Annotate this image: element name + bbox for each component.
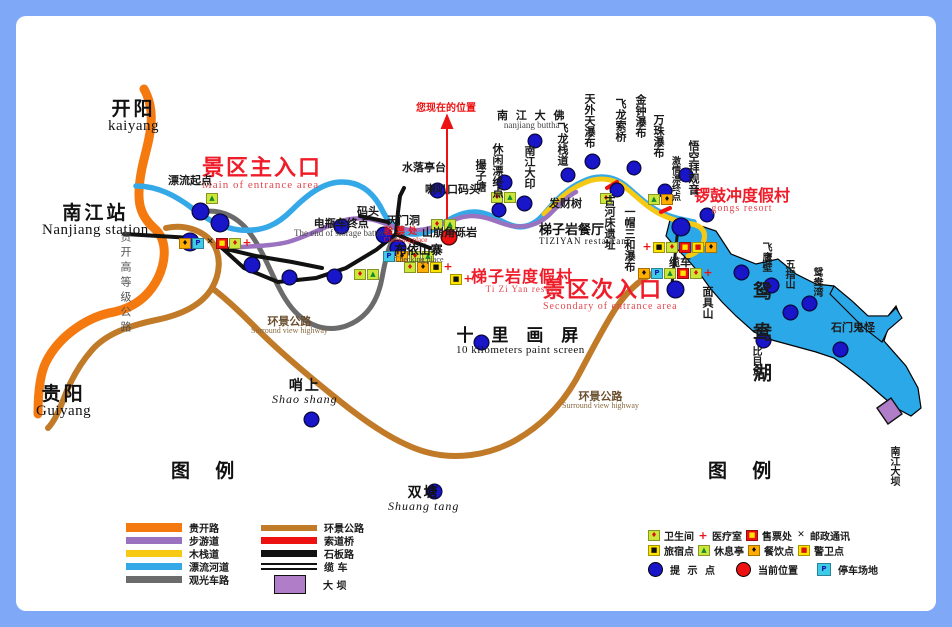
place-guiyang: 贵阳 Guiyang (36, 385, 91, 419)
title-gongs-resort: 锣鼓冲度假村 gongs resort (694, 188, 790, 214)
facility-cluster[interactable]: ♦▲ (354, 269, 379, 280)
info-dot[interactable] (244, 257, 260, 273)
parking-icon: P (817, 563, 831, 576)
poi-buyi-en: Checking place (394, 256, 444, 264)
title-main-entrance: 景区主入口 Main of entrance area (202, 158, 322, 191)
poi-wanzhu-waterfall: 万珠瀑布 (653, 114, 664, 158)
dining-icon: ♦ (705, 242, 717, 253)
poi-paint-screen: 十 里 画 屏 10 kilometers paint screen (456, 328, 585, 356)
ticket-icon: ■ (216, 238, 228, 249)
poi-nanjiang-seal: 南江大印 (524, 145, 535, 189)
road-label-surround-b: 环景公路 Surround view highway (562, 391, 639, 410)
legend-swatch-cablecar (261, 563, 317, 570)
info-dot[interactable] (672, 218, 690, 236)
map-canvas: ♦P✕ ■♦+ ▲ P♦ ♦▲ ♦▲ ♦▲ ♦▲ ♦♦ ■+ ■+ ♦ ▲♦ (16, 16, 936, 611)
lake-name: 鸳 鸯 湖 (751, 281, 770, 386)
info-dot[interactable] (783, 305, 798, 320)
poi-tianwaitian-waterfall: 天外天瀑布 (584, 93, 595, 148)
map-frame: ♦P✕ ■♦+ ▲ P♦ ♦▲ ♦▲ ♦▲ ♦▲ ♦♦ ■+ ■+ ♦ ▲♦ (0, 0, 952, 627)
legend-swatch-guikai (126, 523, 182, 532)
clinic-icon: + (703, 268, 713, 277)
pavilion-icon: ▲ (648, 194, 660, 205)
poi-wukong-guanyin: 悟空拜观音 (688, 140, 699, 195)
legend-item: 石板路 (261, 547, 364, 560)
current-dot-icon (736, 562, 751, 577)
place-shaoshang: 哨上 Shao shang (272, 379, 338, 405)
info-dot[interactable] (492, 203, 506, 217)
place-shuangtang-en: Shuang tang (388, 500, 459, 512)
poi-yimaosanhe-waterfall: 一帽三和瀑布 (624, 206, 635, 272)
place-nanjiang-en: Nanjiang station (42, 223, 149, 238)
info-dot[interactable] (327, 269, 342, 284)
place-guiyang-zh: 贵阳 (36, 385, 91, 404)
place-nanjiang-zh: 南江站 (42, 204, 149, 223)
clinic-icon: + (242, 238, 252, 247)
tiziyan-resort-zh: 梯子岩度假村 (471, 269, 573, 285)
poi-paint-screen-zh: 十 里 画 屏 (456, 328, 585, 345)
guard-icon: ■ (692, 242, 704, 253)
toilet-icon: ♦ (229, 238, 241, 249)
legend-swatch-tourroad (126, 576, 182, 583)
legend-label: 休息亭 (714, 543, 744, 558)
parking-icon: P (192, 238, 204, 249)
title-tiziyan-resort: 梯子岩度假村 Ti Zi Yan resort (471, 269, 573, 294)
legend-right: ♦卫生间 +医疗室 ■售票处 ✕邮政通讯 ■旅宿点 ▲休息亭 ♦餐饮点 ■警卫点… (648, 528, 878, 577)
legend-right-title: 图 例 (708, 456, 781, 483)
ticket-icon: ■ (746, 530, 758, 541)
legend-label: 停车场地 (838, 562, 878, 577)
poi-feilong-rope-bridge: 飞龙索桥 (615, 98, 626, 142)
legend-row: ■旅宿点 ▲休息亭 ♦餐饮点 ■警卫点 (648, 543, 878, 558)
legend-row: ♦卫生间 +医疗室 ■售票处 ✕邮政通讯 (648, 528, 878, 543)
poi-mask-mountain: 面具山 (702, 286, 713, 319)
legend-row: 提 示 点 当前位置 P停车场地 (648, 562, 878, 577)
info-dot[interactable] (585, 154, 600, 169)
poi-feilong-plankroad: 飞龙栈道 (557, 122, 568, 166)
place-guiyang-en: Guiyang (36, 404, 91, 419)
pavilion-icon: ▲ (698, 545, 710, 556)
info-dot[interactable] (517, 196, 532, 211)
post-icon: ✕ (796, 531, 806, 540)
poi-shimen-ghost: 石门鬼怪 (831, 322, 875, 333)
clinic-icon: + (642, 242, 652, 251)
legend-label: 医疗室 (712, 528, 742, 543)
poi-jinzhong-waterfall: 金钟瀑布 (635, 94, 646, 138)
guikai-highway (38, 89, 164, 414)
legend-label: 餐饮点 (764, 543, 794, 558)
place-kaiyang-zh: 开阳 (108, 100, 159, 119)
ticket-icon: ■ (677, 268, 689, 279)
pavilion-icon: ▲ (206, 193, 218, 204)
pavilion-icon: ▲ (504, 192, 516, 203)
poi-rafting-start: 漂流起点 (168, 175, 212, 186)
guard-icon: ■ (798, 545, 810, 556)
pavilion-icon: ▲ (367, 269, 379, 280)
secondary-entrance-en: Secondary of entrance area (543, 302, 678, 312)
place-kaiyang: 开阳 kaiyang (108, 100, 159, 134)
poi-restaurant-en: TIZIYAN restaurant (539, 237, 630, 246)
lodging-icon: ■ (653, 242, 665, 253)
legend-swatch-river (126, 563, 182, 570)
legend-label: 警卫点 (814, 543, 844, 558)
poi-leisure-raft-end: 休闲漂终点 (492, 143, 503, 198)
dining-icon: ♦ (179, 238, 191, 249)
legend-label: 观光车路 (189, 572, 229, 587)
gongs-resort-en: gongs resort (694, 204, 790, 214)
current-location-note: 您现在的位置 (416, 104, 476, 114)
legend-left-col1: 贵开路 步游道 木栈道 漂流河道 观光车路 (126, 521, 229, 595)
poi-buyi-village: 布依山寨 Checking place (394, 244, 444, 264)
info-dot-icon (648, 562, 663, 577)
poi-mandarin-bay: 鸳鸯湾 (811, 267, 821, 297)
pavilion-icon: ▲ (664, 268, 676, 279)
info-dot[interactable] (304, 412, 319, 427)
info-dot[interactable] (282, 270, 297, 285)
place-shaoshang-zh: 哨上 (272, 379, 338, 393)
legend-swatch-surround (261, 525, 317, 531)
info-dot[interactable] (734, 265, 749, 280)
gongs-resort-zh: 锣鼓冲度假村 (694, 188, 790, 204)
surround-b-en: Surround view highway (562, 402, 639, 410)
lodging-icon: ■ (450, 274, 462, 285)
toilet-icon: ♦ (648, 530, 660, 541)
clinic-icon: + (698, 531, 708, 540)
legend-left-title: 图 例 (171, 456, 244, 483)
legend-label: 售票处 (762, 528, 792, 543)
poi-fortune-tree: 发财树 (549, 198, 582, 209)
tiziyan-resort-en: Ti Zi Yan resort (471, 285, 573, 294)
info-dot[interactable] (833, 342, 848, 357)
lake-name-text: 鸳 鸯 湖 (751, 281, 770, 382)
legend-swatch-ropebridge (261, 537, 317, 544)
lodging-icon: ■ (648, 545, 660, 556)
legend-swatch-stone (261, 550, 317, 557)
info-dot[interactable] (561, 168, 575, 182)
place-shuangtang: 双塘 Shuang tang (388, 486, 459, 512)
legend-item: 大 坝 (261, 573, 364, 595)
poi-battery-end-en: The end of storage battery (294, 229, 388, 238)
toilet-icon: ♦ (354, 269, 366, 280)
toilet-icon: ♦ (666, 242, 678, 253)
poi-passion-raft-end: 激情漂终点 (670, 156, 679, 201)
poi-tianmen-cave: 天门洞 (387, 215, 420, 226)
legend-left: 贵开路 步游道 木栈道 漂流河道 观光车路 环景公路 索道桥 石板路 缆 车 大… (126, 521, 364, 595)
legend-swatch-boardwalk (126, 550, 182, 557)
poi-cable-car: 缆车 (669, 257, 691, 268)
place-shuangtang-zh: 双塘 (388, 486, 459, 500)
facility-cluster[interactable]: +■♦ ■■♦ (642, 242, 717, 253)
surround-a-en: Surround view highway (251, 327, 328, 335)
legend-item: 观光车路 (126, 573, 229, 586)
legend-label: 当前位置 (758, 562, 798, 577)
poi-wharf: 码头 (357, 206, 379, 217)
poi-nanjiang-dam: 南江大坝 (888, 446, 898, 486)
legend-label: 卫生间 (664, 528, 694, 543)
place-kaiyang-en: kaiyang (108, 119, 159, 134)
info-dot[interactable] (802, 296, 817, 311)
legend-left-col2: 环景公路 索道桥 石板路 缆 车 大 坝 (261, 521, 364, 595)
poi-cuozi-pond: 撮子塘 (475, 159, 486, 192)
main-entrance-zh: 景区主入口 (202, 158, 322, 180)
legend-swatch-walk (126, 537, 182, 544)
ticket-icon: ■ (679, 242, 691, 253)
post-icon: ✕ (205, 238, 215, 247)
road-label-surround-a: 环景公路 Surround view highway (251, 316, 328, 335)
dining-icon: ♦ (748, 545, 760, 556)
legend-swatch-dam (274, 575, 306, 594)
legend-label: 缆 车 (324, 559, 347, 574)
poi-paint-screen-en: 10 kilometers paint screen (456, 345, 585, 356)
info-dot[interactable] (192, 203, 209, 220)
poi-tiziyan-restaurant: 梯子岩餐厅 TIZIYAN restaurant (539, 224, 630, 246)
place-shaoshang-en: Shao shang (272, 393, 338, 405)
legend-label: 旅宿点 (664, 543, 694, 558)
place-nanjiang-station: 南江站 Nanjiang station (42, 204, 149, 238)
main-entrance-en: Main of entrance area (202, 180, 322, 191)
clinic-icon: + (443, 262, 453, 271)
info-dot[interactable] (211, 214, 229, 232)
poi-wuzhi-mountain: 五指山 (783, 259, 793, 289)
poi-battery-end: 电瓶车终点 The end of storage battery (294, 218, 388, 238)
legend-label: 提 示 点 (670, 562, 717, 577)
toilet-icon: ♦ (690, 268, 702, 279)
poi-checking-place-1: 验 票 处 Checking place (384, 228, 427, 244)
road-label-guikai: 贵开高等级公路 (120, 231, 131, 336)
facility-cluster[interactable]: ■+ (450, 274, 473, 285)
legend-item: 缆 车 (261, 560, 364, 573)
poi-eagle-cliff: 飞鹰壁 (760, 242, 770, 272)
facility-cluster[interactable]: ▲ (206, 193, 218, 204)
poi-laba-wharf: 喇叭口码头 (425, 184, 480, 195)
legend-label: 邮政通讯 (810, 528, 850, 543)
facility-cluster[interactable]: ♦P✕ ■♦+ (179, 238, 252, 249)
info-dot[interactable] (627, 161, 641, 175)
poi-shuiluo-pavilion: 水落亭台 (402, 162, 446, 173)
poi-landslide-breccia: 山崩角砾岩 (422, 227, 477, 238)
legend-label: 大 坝 (323, 577, 346, 592)
